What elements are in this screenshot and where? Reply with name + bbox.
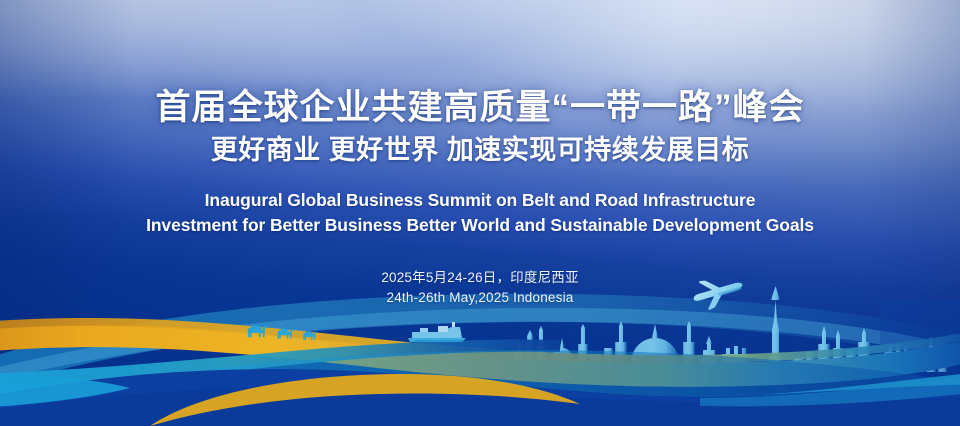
monument-obelisk — [769, 300, 782, 372]
title-english-line2: Investment for Better Business Better Wo… — [74, 213, 886, 238]
cyan-ribbon-lower — [0, 350, 960, 426]
camel-icon — [303, 331, 316, 340]
bottom-right-cyan-crest-2 — [700, 374, 960, 406]
event-date-chinese: 2025年5月24-26日，印度尼西亚 — [0, 268, 960, 288]
title-english: Inaugural Global Business Summit on Belt… — [74, 166, 886, 238]
bottom-left-cyan-crest — [0, 376, 130, 408]
event-date-location: 2025年5月24-26日，印度尼西亚 24th-26th May,2025 I… — [0, 238, 960, 308]
cyan-maritime-ribbon — [0, 340, 560, 398]
banner-text-block: 首届全球企业共建高质量“一带一路”峰会 更好商业 更好世界 加速实现可持续发展目… — [0, 0, 960, 308]
title-chinese-sub: 更好商业 更好世界 加速实现可持续发展目标 — [0, 128, 960, 166]
summit-banner: 首届全球企业共建高质量“一带一路”峰会 更好商业 更好世界 加速实现可持续发展目… — [0, 0, 960, 426]
title-english-line1: Inaugural Global Business Summit on Belt… — [74, 188, 886, 213]
light-arc-sweep — [0, 294, 960, 392]
event-date-english: 24th-26th May,2025 Indonesia — [0, 288, 960, 308]
camel-icon — [278, 328, 293, 339]
gold-silk-road-ribbon — [0, 325, 960, 387]
bottom-right-cyan-crest — [740, 372, 960, 396]
title-chinese-main: 首届全球企业共建高质量“一带一路”峰会 — [0, 0, 960, 128]
foreground-wave-deep-2 — [0, 386, 960, 426]
skyline-fade-haze — [880, 300, 960, 400]
foreground-wave-deep — [0, 369, 960, 426]
ship-icon — [408, 322, 466, 342]
gold-ribbon-highlight — [0, 318, 960, 363]
bottom-gold-crest — [150, 374, 580, 426]
light-arc-thin — [0, 308, 960, 384]
camel-icon — [248, 325, 266, 338]
camel-caravan — [248, 325, 317, 340]
